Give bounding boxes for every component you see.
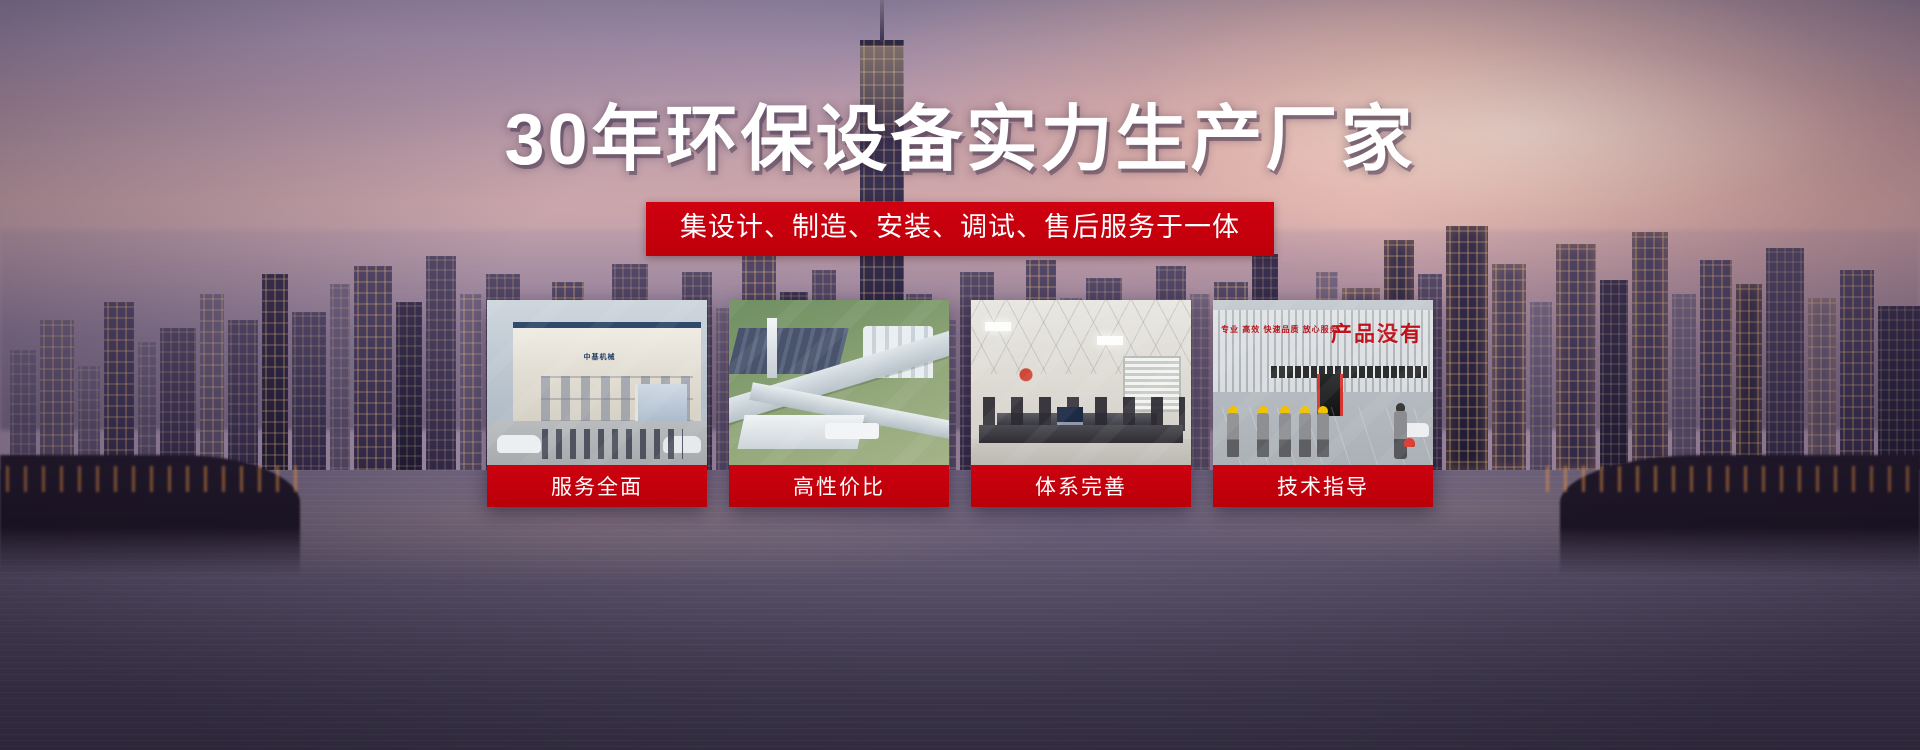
feature-card[interactable]: 专业 高效 快速品质 放心服务 产品没有 技术指导 <box>1213 300 1433 507</box>
card-label: 体系完善 <box>971 465 1191 507</box>
card-image-aerial-view-industrial-plant <box>729 300 949 465</box>
subtitle-badge: 集设计、制造、安装、调试、售后服务于一体 <box>646 202 1274 256</box>
page-title: 30年环保设备实力生产厂家 <box>504 104 1415 176</box>
factory-wall-headline: 产品没有 <box>1331 318 1423 348</box>
building-sign-text: 中基机械 <box>583 352 615 362</box>
feature-card-list: 中基机械 服务全面 <box>487 300 1433 507</box>
card-image-company-office-building-with-staff: 中基机械 <box>487 300 707 465</box>
card-image-office-interior-with-employees <box>971 300 1191 465</box>
card-label: 技术指导 <box>1213 465 1433 507</box>
factory-wall-slogan: 专业 高效 快速品质 放心服务 <box>1221 324 1339 335</box>
banner-content: 30年环保设备实力生产厂家 集设计、制造、安装、调试、售后服务于一体 中基机械 <box>0 0 1920 750</box>
feature-card[interactable]: 中基机械 服务全面 <box>487 300 707 507</box>
feature-card[interactable]: 高性价比 <box>729 300 949 507</box>
card-label: 高性价比 <box>729 465 949 507</box>
feature-card[interactable]: 体系完善 <box>971 300 1191 507</box>
card-label: 服务全面 <box>487 465 707 507</box>
hero-banner: 30年环保设备实力生产厂家 集设计、制造、安装、调试、售后服务于一体 中基机械 <box>0 0 1920 750</box>
card-image-factory-yard-with-workers: 专业 高效 快速品质 放心服务 产品没有 <box>1213 300 1433 465</box>
